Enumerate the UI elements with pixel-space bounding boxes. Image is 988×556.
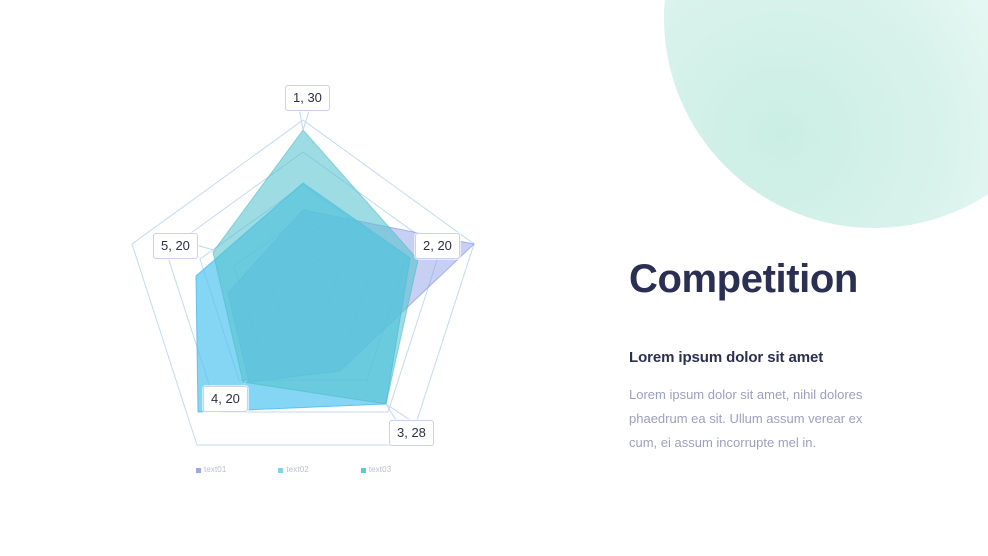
legend-swatch-icon [361,468,366,473]
legend-swatch-icon [196,468,201,473]
body-paragraph: Lorem ipsum dolor sit amet, nihil dolore… [629,383,877,455]
legend-label: text03 [369,466,391,474]
section-subtitle: Lorem ipsum dolor sit amet [629,349,929,367]
data-label-axis-1[interactable]: 1, 30 [285,85,330,111]
data-label-axis-3[interactable]: 3, 28 [389,420,434,446]
legend-label: text02 [286,466,308,474]
series-polygon-text03 [213,130,418,404]
legend-item-text03[interactable]: text03 [361,466,391,474]
data-label-axis-5[interactable]: 5, 20 [153,233,198,259]
data-label-axis-4[interactable]: 4, 20 [203,386,248,412]
legend-item-text01[interactable]: text01 [196,466,226,474]
page-title: Competition [629,258,929,300]
chart-legend: text01 text02 text03 [196,466,391,474]
legend-label: text01 [204,466,226,474]
content-panel: Competition Lorem ipsum dolor sit amet L… [629,258,929,455]
data-label-axis-2[interactable]: 2, 20 [415,233,460,259]
decorative-blob [664,0,988,228]
radar-chart-panel: 1, 30 2, 20 3, 28 4, 20 5, 20 text01 tex… [0,0,600,556]
legend-item-text02[interactable]: text02 [278,466,308,474]
legend-swatch-icon [278,468,283,473]
